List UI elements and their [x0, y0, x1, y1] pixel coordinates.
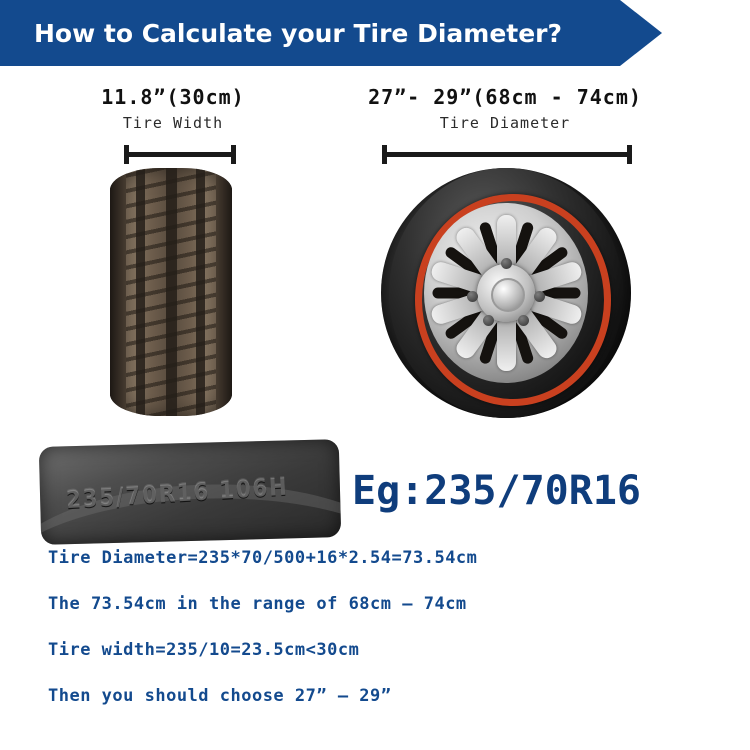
lug-nut	[467, 291, 478, 302]
tread-sidewall-left	[110, 168, 126, 416]
formula-list: Tire Diameter=235*70/500+16*2.54=73.54cm…	[48, 548, 728, 732]
tread-sidewall-right	[216, 168, 232, 416]
tread-surface	[110, 168, 232, 416]
tire-width-value: 11.8”(30cm)	[60, 85, 286, 109]
lug-nut	[501, 258, 512, 269]
header-banner: How to Calculate your Tire Diameter?	[0, 0, 620, 66]
page-title: How to Calculate your Tire Diameter?	[34, 19, 562, 48]
tire-diameter-label: Tire Diameter	[330, 114, 680, 132]
tire-diameter-value: 27”- 29”(68cm - 74cm)	[330, 85, 680, 109]
tread-groove	[136, 168, 145, 416]
lug-nut	[518, 315, 529, 326]
tire-width-label: Tire Width	[60, 114, 286, 132]
tire-width-arrow-bar	[124, 152, 236, 157]
tire-sidewall-photo: 235/70R16 106H	[39, 439, 341, 545]
tire-tread-illustration	[110, 168, 232, 416]
tire-diameter-measurement: 27”- 29”(68cm - 74cm) Tire Diameter	[330, 85, 680, 132]
tread-groove	[166, 168, 177, 416]
formula-line: Tire Diameter=235*70/500+16*2.54=73.54cm	[48, 548, 728, 568]
example-size-label: Eg:235/70R16	[352, 468, 641, 514]
tire-diameter-arrow-bar	[382, 152, 632, 157]
center-cap	[491, 278, 525, 312]
lug-nut	[534, 291, 545, 302]
alloy-rim	[424, 203, 588, 383]
wheel-illustration	[381, 168, 631, 418]
formula-line: Tire width=235/10=23.5cm<30cm	[48, 640, 728, 660]
formula-line: Then you should choose 27” – 29”	[48, 686, 728, 706]
formula-line: The 73.54cm in the range of 68cm – 74cm	[48, 594, 728, 614]
tire-width-measurement: 11.8”(30cm) Tire Width	[60, 85, 286, 132]
lug-nut	[483, 315, 494, 326]
tread-groove	[196, 168, 205, 416]
